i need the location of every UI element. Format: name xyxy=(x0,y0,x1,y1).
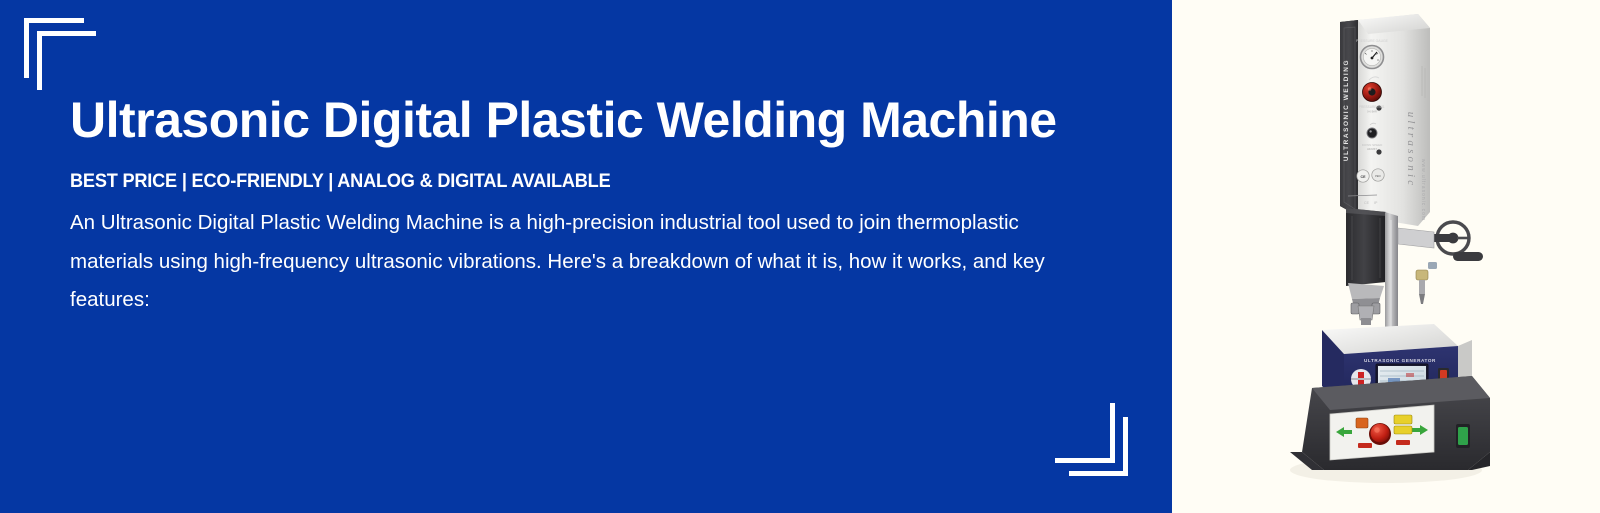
svg-text:ULTRASONIC GENERATOR: ULTRASONIC GENERATOR xyxy=(1364,358,1436,363)
corner-bracket-bottom-right-icon xyxy=(1056,404,1128,476)
banner-description: An Ultrasonic Digital Plastic Welding Ma… xyxy=(70,204,1080,320)
svg-text:ULTRASONIC WELDING: ULTRASONIC WELDING xyxy=(1343,59,1350,161)
page-title: Ultrasonic Digital Plastic Welding Machi… xyxy=(70,92,1110,148)
svg-text:CE: CE xyxy=(1364,201,1370,205)
corner-bracket-top-left-icon xyxy=(24,18,96,90)
banner-text-panel: Ultrasonic Digital Plastic Welding Machi… xyxy=(0,0,1172,513)
svg-text:PRESSURE GAUGE: PRESSURE GAUGE xyxy=(1356,39,1389,43)
svg-text:DOWN SPEED: DOWN SPEED xyxy=(1362,143,1383,147)
svg-text:CE: CE xyxy=(1361,175,1367,179)
svg-text:ISO: ISO xyxy=(1375,174,1381,178)
svg-text:ultrasonic: ultrasonic xyxy=(1405,112,1417,189)
ultrasonic-welding-machine-image: ultrasonic www.ultrasonic.com ULTRASONIC… xyxy=(1172,0,1600,513)
svg-text:www.ultrasonic.com: www.ultrasonic.com xyxy=(1420,159,1426,221)
svg-text:ADJUST: ADJUST xyxy=(1367,148,1377,151)
banner-tagline: BEST PRICE | ECO-FRIENDLY | ANALOG & DIG… xyxy=(70,170,1037,193)
product-hero-banner: Ultrasonic Digital Plastic Welding Machi… xyxy=(0,0,1600,513)
svg-text:IP: IP xyxy=(1374,201,1378,205)
svg-text:PRESSURE REG.: PRESSURE REG. xyxy=(1359,105,1385,109)
svg-text:0-6 BAR: 0-6 BAR xyxy=(1367,110,1377,114)
banner-copy-block: Ultrasonic Digital Plastic Welding Machi… xyxy=(70,92,1110,320)
banner-product-image-panel: ultrasonic www.ultrasonic.com ULTRASONIC… xyxy=(1172,0,1600,513)
